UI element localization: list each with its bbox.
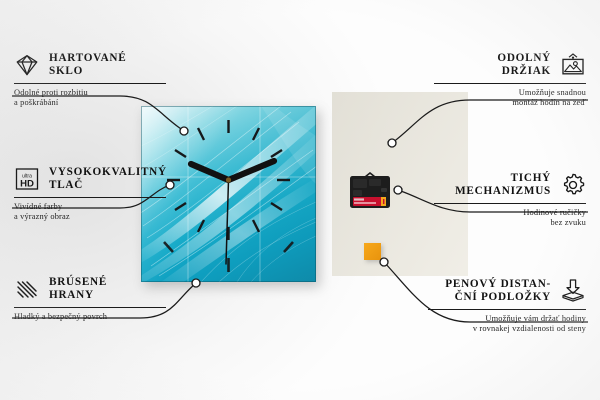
feature-title: BRÚSENÉ HRANY [49, 276, 107, 303]
diamond-icon [14, 52, 40, 78]
gear-icon [560, 172, 586, 198]
feature-description: Vivídné farby a výrazný obraz [14, 202, 166, 223]
divider [428, 309, 586, 310]
divider [14, 197, 166, 198]
feature-foam-spacers: PENOVÝ DISTAN- ČNÍ PODLOŽKY Umožňuje vám… [428, 278, 586, 335]
feature-title: PENOVÝ DISTAN- ČNÍ PODLOŽKY [445, 278, 551, 305]
feature-silent-mechanism: TICHÝ MECHANIZMUS Hodinové ručičky bez z… [434, 172, 586, 229]
ultra-hd-icon: ultra HD [14, 166, 40, 192]
feature-description: Umožňuje snadnou montáž hodín na zeď [434, 88, 586, 109]
feature-polished-edges: BRÚSENÉ HRANY Hladký a bezpečný povrch [14, 276, 166, 322]
divider [434, 83, 586, 84]
feature-title: TICHÝ MECHANIZMUS [455, 172, 551, 199]
feature-durable-hanger: ODOLNÝ DRŽIAK Umožňuje snadnou montáž ho… [434, 52, 586, 109]
feature-tempered-glass: HARTOVANÉ SKLO Odolné proti rozbitiu a p… [14, 52, 166, 109]
feature-description: Umožňuje vám držať hodiny v rovnakej vzd… [428, 314, 586, 335]
feature-title: ODOLNÝ DRŽIAK [497, 52, 551, 79]
feature-high-quality-print: ultra HD VYSOKOKVALITNÝ TLAČ Vivídné far… [14, 166, 166, 223]
foam-pad-press-icon [560, 278, 586, 304]
divider [14, 83, 166, 84]
feature-description: Hladký a bezpečný povrch [14, 312, 166, 323]
feature-description: Hodinové ručičky bez zvuku [434, 208, 586, 229]
feature-title: VYSOKOKVALITNÝ TLAČ [49, 166, 167, 193]
feature-title: HARTOVANÉ SKLO [49, 52, 126, 79]
product-infographic: HARTOVANÉ SKLO Odolné proti rozbitiu a p… [0, 0, 600, 400]
divider [434, 203, 586, 204]
divider [14, 307, 166, 308]
feature-description: Odolné proti rozbitiu a poškrábání [14, 88, 166, 109]
svg-text:HD: HD [20, 179, 34, 190]
picture-frame-hanger-icon [560, 52, 586, 78]
polished-edges-icon [14, 276, 40, 302]
